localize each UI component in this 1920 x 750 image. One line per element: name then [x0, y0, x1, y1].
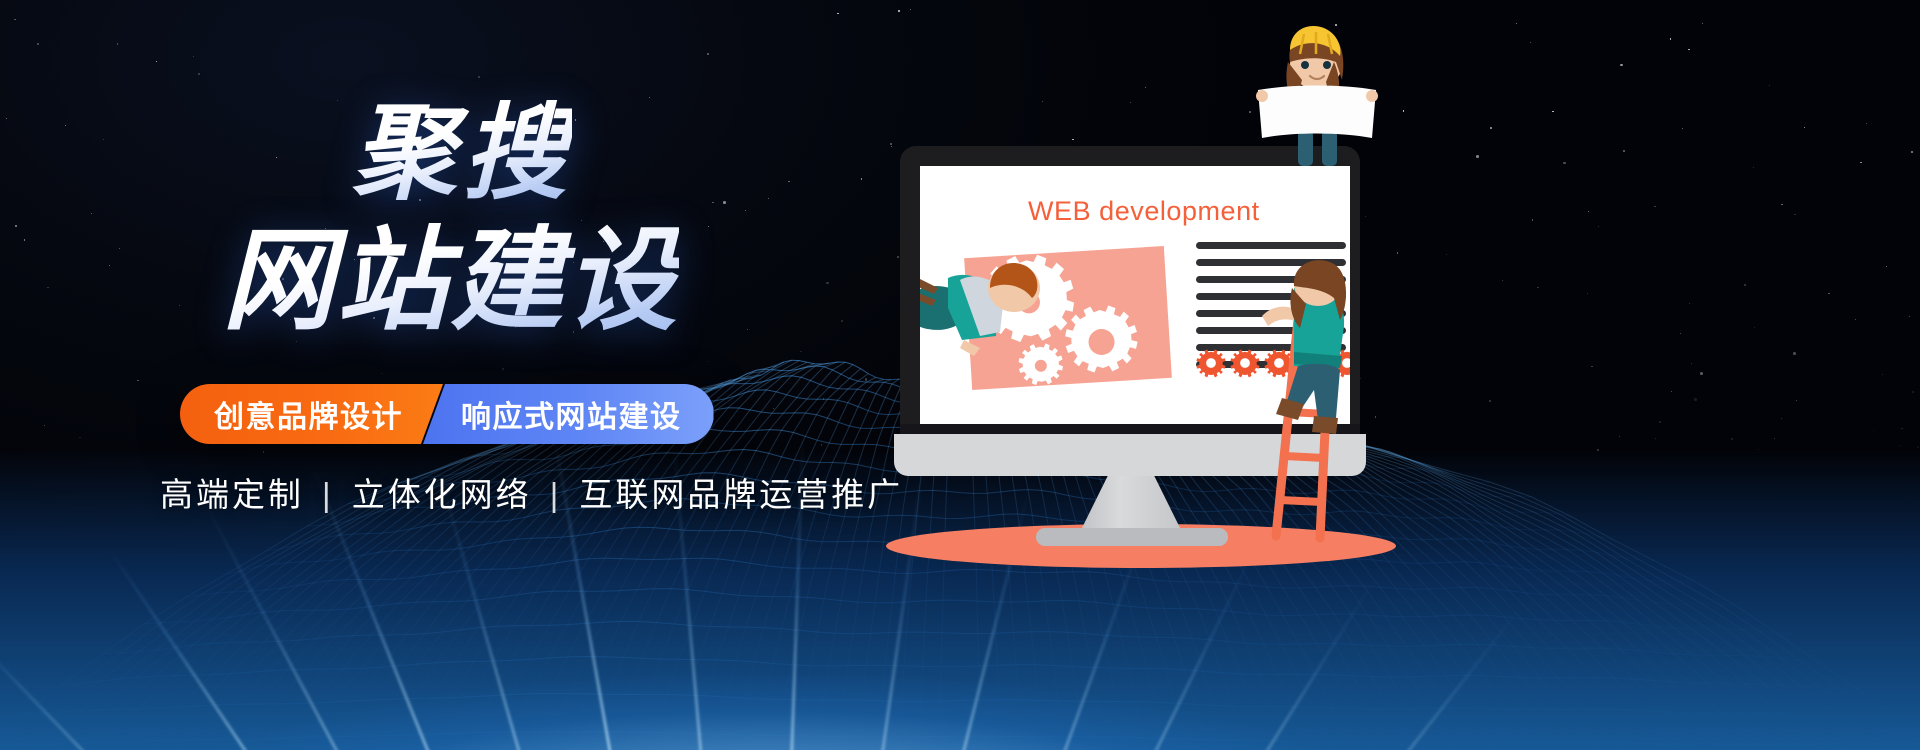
tagline-separator-2: | — [544, 476, 568, 513]
page-title-line-2: 网站建设 — [222, 222, 679, 340]
tagline-separator-1: | — [316, 476, 340, 513]
gear-icon — [1196, 348, 1226, 378]
climbing-worker — [1258, 258, 1368, 448]
hero-banner: 聚搜 网站建设 创意品牌设计 响应式网站建设 高端定制 | 立体化网络 | 互联… — [0, 0, 1920, 750]
blueprint-icon — [1258, 86, 1376, 139]
content-text-line — [1196, 242, 1346, 249]
leaning-worker — [920, 244, 1064, 384]
blueprint-worker — [1246, 18, 1386, 168]
tagline-part-2: 立体化网络 — [352, 476, 532, 513]
pill-creative-brand-design[interactable]: 创意品牌设计 — [180, 384, 443, 444]
service-pill-group: 创意品牌设计 响应式网站建设 — [180, 384, 714, 444]
monitor-foot — [1036, 528, 1228, 546]
illustration: WEB development — [860, 0, 1920, 750]
monitor-neck — [1078, 476, 1184, 536]
tagline: 高端定制 | 立体化网络 | 互联网品牌运营推广 — [160, 468, 903, 516]
page-title-line-1: 聚搜 — [352, 100, 572, 209]
pill-responsive-website[interactable]: 响应式网站建设 — [423, 384, 714, 444]
screen-title: WEB development — [1028, 196, 1260, 227]
gear-icon — [1230, 348, 1260, 378]
tagline-part-3: 互联网品牌运营推广 — [579, 476, 903, 513]
tagline-part-1: 高端定制 — [160, 476, 304, 513]
hero-copy: 聚搜 网站建设 创意品牌设计 响应式网站建设 高端定制 | 立体化网络 | 互联… — [0, 0, 900, 750]
